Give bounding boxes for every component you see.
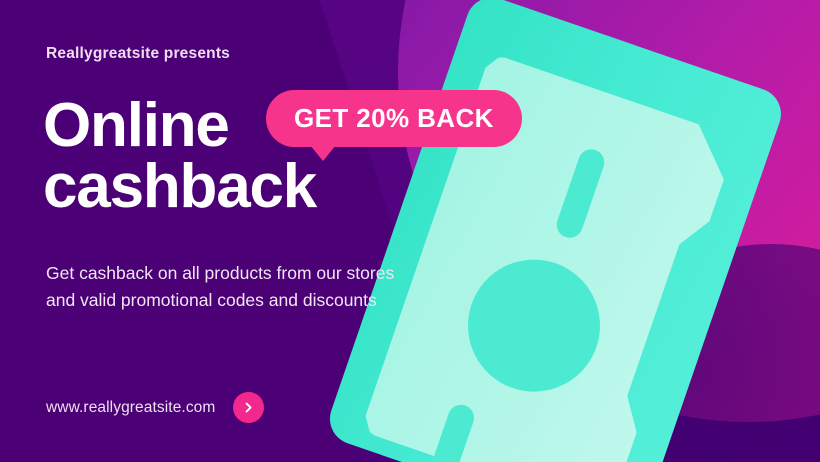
chevron-right-icon: [242, 401, 255, 414]
website-url[interactable]: www.reallygreatsite.com: [46, 399, 215, 417]
content-column: Reallygreatsite presents Online cashback…: [46, 0, 446, 462]
discount-badge-tail: [310, 145, 336, 161]
body-description: Get cashback on all products from our st…: [46, 260, 406, 313]
discount-badge-label: GET 20% BACK: [294, 103, 494, 134]
discount-badge[interactable]: GET 20% BACK: [266, 90, 522, 147]
cta-arrow-button[interactable]: [233, 392, 264, 423]
brand-eyebrow: Reallygreatsite presents: [46, 45, 230, 63]
promo-banner: GET 20% BACK Reallygreatsite presents On…: [0, 0, 820, 462]
footer-url-row: www.reallygreatsite.com: [46, 392, 264, 423]
headline-line-2: cashback: [43, 157, 316, 218]
